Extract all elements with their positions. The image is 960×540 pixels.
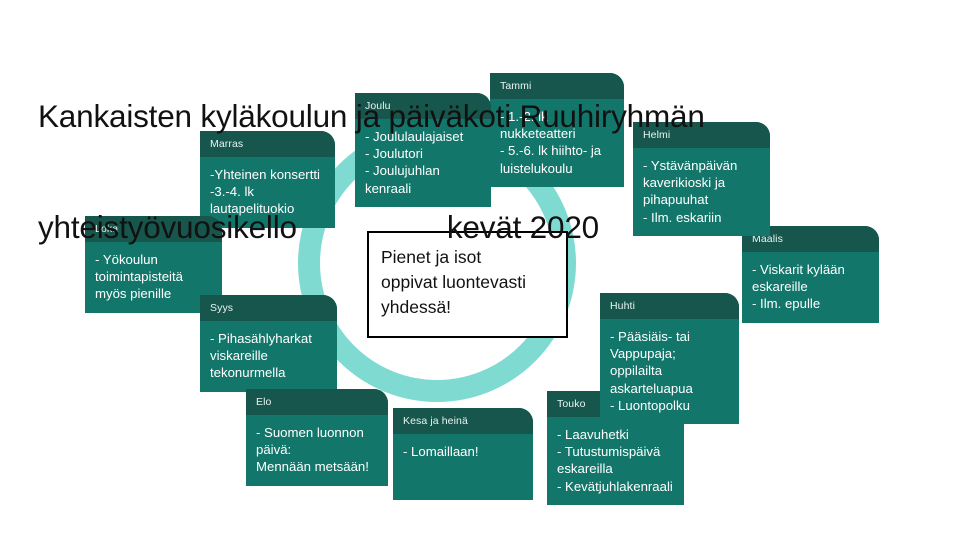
title-line-2: yhteistyövuosikello	[38, 209, 297, 245]
month-card-header: Kesa ja heinä	[393, 408, 533, 434]
title-line-2-wrap: yhteistyövuosikellokevät 2020	[38, 209, 918, 246]
month-card-body: - Pihasählyharkat viskareille tekonurmel…	[200, 321, 337, 392]
month-card-elo[interactable]: Elo - Suomen luonnon päivä: Mennään mets…	[246, 389, 388, 486]
month-card-body: - Laavuhetki - Tutustumispäivä eskareill…	[547, 417, 684, 505]
month-card-body: - Pääsiäis- tai Vappupaja; oppilailta as…	[600, 319, 739, 424]
title-line-1: Kankaisten kyläkoulun ja päiväkoti Ruuhi…	[38, 98, 918, 135]
month-card-body: - Suomen luonnon päivä: Mennään metsään!	[246, 415, 388, 486]
slide-canvas: Kankaisten kyläkoulun ja päiväkoti Ruuhi…	[0, 0, 960, 540]
month-card-body: - Lomaillaan!	[393, 434, 533, 470]
page-title: Kankaisten kyläkoulun ja päiväkoti Ruuhi…	[38, 24, 918, 320]
month-card-header: Elo	[246, 389, 388, 415]
month-card-kesa-ja-heina[interactable]: Kesa ja heinä - Lomaillaan!	[393, 408, 533, 500]
title-line-3: kevät 2020	[447, 209, 599, 246]
